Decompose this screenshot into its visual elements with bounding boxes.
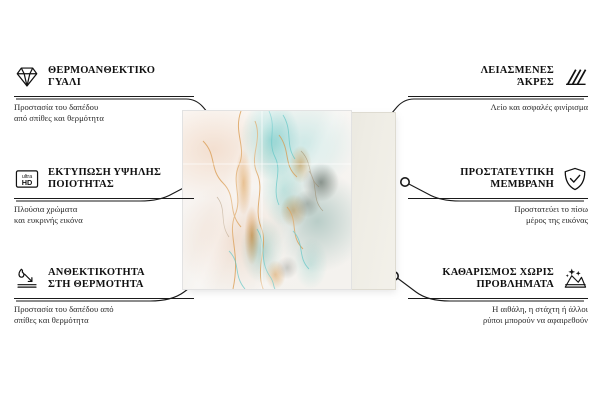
feature-divider (14, 298, 194, 299)
feature-header: ΘΕΡΜΟΑΝΘΕΚΤΙΚΟ ΓΥΑΛΙ (14, 64, 194, 90)
feature-desc-line1: Προστατεύει το πίσω (408, 204, 588, 215)
feature-title-line2: ΜΕΜΒΡΑΝΗ (460, 179, 554, 192)
panel-front-artwork (182, 110, 352, 290)
feature-divider (408, 96, 588, 97)
feature-title-line2: ΣΤΗ ΘΕΡΜΟΤΗΤΑ (48, 279, 145, 292)
feature-desc-line1: Η αιθάλη, η στάχτη ή άλλοι (408, 304, 588, 315)
feature-protective-membrane: ΠΡΟΣΤΑΤΕΥΤΙΚΗ ΜΕΜΒΡΑΝΗ Προστατεύει το πί… (408, 166, 588, 226)
easy-cleaning-icon (562, 266, 588, 292)
feature-heat-resistance: ΑΝΘΕΚΤΙΚΟΤΗΤΑ ΣΤΗ ΘΕΡΜΟΤΗΤΑ Προστασία το… (14, 266, 194, 326)
product-image (182, 110, 397, 290)
polished-edges-icon (562, 64, 588, 90)
feature-description: Προστασία του δαπέδου από σπίθες και θερ… (14, 304, 194, 326)
feature-description: Λείο και ασφαλές φινίρισμα (408, 102, 588, 113)
feature-title-line2: ΠΟΙΟΤΗΤΑΣ (48, 179, 161, 192)
feature-title-line1: ΘΕΡΜΟΑΝΘΕΚΤΙΚΟ (48, 65, 155, 78)
feature-desc-line1: Προστασία του δαπέδου (14, 102, 194, 113)
feature-easy-cleaning: ΚΑΘΑΡΙΣΜΟΣ ΧΩΡΙΣ ΠΡΟΒΛΗΜΑΤΑ Η αιθάλη, η … (408, 266, 588, 326)
feature-description: Πλούσια χρώματα και ευκρινής εικόνα (14, 204, 194, 226)
feature-header: ΠΡΟΣΤΑΤΕΥΤΙΚΗ ΜΕΜΒΡΑΝΗ (408, 166, 588, 192)
feature-title-line2: ΠΡΟΒΛΗΜΑΤΑ (442, 279, 554, 292)
glass-mullion-horizontal (183, 163, 351, 165)
feature-header: ΚΑΘΑΡΙΣΜΟΣ ΧΩΡΙΣ ΠΡΟΒΛΗΜΑΤΑ (408, 266, 588, 292)
feature-divider (14, 198, 194, 199)
feature-desc-line2: σπίθες και θερμότητα (14, 315, 194, 326)
feature-divider (14, 96, 194, 97)
feature-divider (408, 198, 588, 199)
feature-title-line2: ΆΚΡΕΣ (481, 77, 554, 90)
feature-desc-line1: Πλούσια χρώματα (14, 204, 194, 215)
feature-description: Προστατεύει το πίσω μέρος της εικόνας (408, 204, 588, 226)
feature-desc-line2: ρύποι μπορούν να αφαιρεθούν (408, 315, 588, 326)
feature-title: ΘΕΡΜΟΑΝΘΕΚΤΙΚΟ ΓΥΑΛΙ (48, 65, 155, 90)
feature-title: ΑΝΘΕΚΤΙΚΟΤΗΤΑ ΣΤΗ ΘΕΡΜΟΤΗΤΑ (48, 267, 145, 292)
feature-header: ultra HD ΕΚΤΥΠΩΣΗ ΥΨΗΛΗΣ ΠΟΙΟΤΗΤΑΣ (14, 166, 194, 192)
feature-title-line1: ΠΡΟΣΤΑΤΕΥΤΙΚΗ (460, 167, 554, 180)
feature-desc-line2: μέρος της εικόνας (408, 215, 588, 226)
feature-header: ΛΕΙΑΣΜΕΝΕΣ ΆΚΡΕΣ (408, 64, 588, 90)
feature-title: ΛΕΙΑΣΜΕΝΕΣ ΆΚΡΕΣ (481, 65, 554, 90)
feature-title-line2: ΓΥΑΛΙ (48, 77, 155, 90)
glass-reflection (183, 111, 351, 289)
shield-check-icon (562, 166, 588, 192)
feature-title-line1: ΑΝΘΕΚΤΙΚΟΤΗΤΑ (48, 267, 145, 280)
feature-divider (408, 298, 588, 299)
feature-desc-line2: από σπίθες και θερμότητα (14, 113, 194, 124)
svg-text:HD: HD (22, 178, 33, 187)
feature-description: Η αιθάλη, η στάχτη ή άλλοι ρύποι μπορούν… (408, 304, 588, 326)
feature-header: ΑΝΘΕΚΤΙΚΟΤΗΤΑ ΣΤΗ ΘΕΡΜΟΤΗΤΑ (14, 266, 194, 292)
heat-resistance-icon (14, 266, 40, 292)
feature-desc-line1: Λείο και ασφαλές φινίρισμα (408, 102, 588, 113)
feature-desc-line1: Προστασία του δαπέδου από (14, 304, 194, 315)
feature-title: ΕΚΤΥΠΩΣΗ ΥΨΗΛΗΣ ΠΟΙΟΤΗΤΑΣ (48, 167, 161, 192)
feature-title-line1: ΛΕΙΑΣΜΕΝΕΣ (481, 65, 554, 78)
feature-heat-resistant-glass: ΘΕΡΜΟΑΝΘΕΚΤΙΚΟ ΓΥΑΛΙ Προστασία του δαπέδ… (14, 64, 194, 124)
ultra-hd-icon: ultra HD (14, 166, 40, 192)
feature-polished-edges: ΛΕΙΑΣΜΕΝΕΣ ΆΚΡΕΣ Λείο και ασφαλές φινίρι… (408, 64, 588, 113)
glass-mullion-vertical (261, 111, 263, 289)
infographic-canvas: ΘΕΡΜΟΑΝΘΕΚΤΙΚΟ ΓΥΑΛΙ Προστασία του δαπέδ… (0, 0, 600, 400)
diamond-icon (14, 64, 40, 90)
feature-title: ΠΡΟΣΤΑΤΕΥΤΙΚΗ ΜΕΜΒΡΑΝΗ (460, 167, 554, 192)
feature-description: Προστασία του δαπέδου από σπίθες και θερ… (14, 102, 194, 124)
feature-title: ΚΑΘΑΡΙΣΜΟΣ ΧΩΡΙΣ ΠΡΟΒΛΗΜΑΤΑ (442, 267, 554, 292)
feature-title-line1: ΚΑΘΑΡΙΣΜΟΣ ΧΩΡΙΣ (442, 267, 554, 280)
feature-desc-line2: και ευκρινής εικόνα (14, 215, 194, 226)
feature-high-quality-print: ultra HD ΕΚΤΥΠΩΣΗ ΥΨΗΛΗΣ ΠΟΙΟΤΗΤΑΣ Πλούσ… (14, 166, 194, 226)
feature-title-line1: ΕΚΤΥΠΩΣΗ ΥΨΗΛΗΣ (48, 167, 161, 180)
